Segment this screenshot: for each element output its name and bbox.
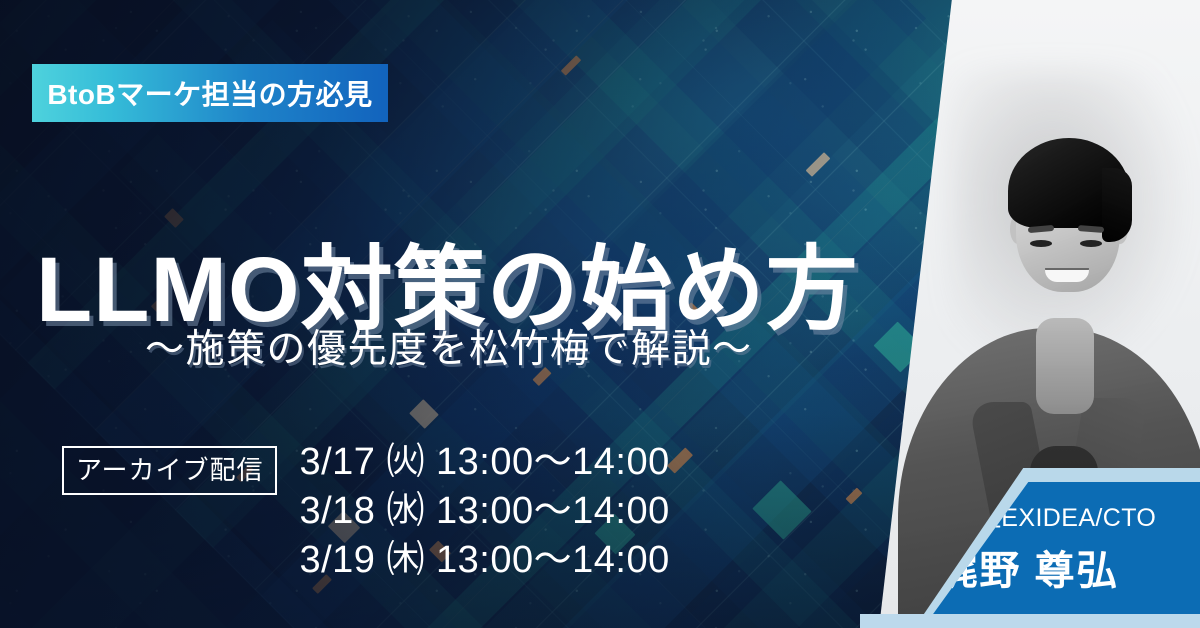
schedule-date-row: 3/19 ㈭ 13:00〜14:00: [299, 540, 669, 581]
schedule-date-row: 3/18 ㈬ 13:00〜14:00: [299, 491, 669, 532]
archive-delivery-tag: アーカイブ配信: [62, 446, 277, 495]
bottom-accent-strip: [860, 614, 1200, 628]
page-subtitle: 〜施策の優先度を松竹梅で解説〜: [145, 318, 753, 374]
audience-badge: BtoBマーケ担当の方必見: [32, 64, 388, 122]
schedule-date-row: 3/17 ㈫ 13:00〜14:00: [299, 442, 669, 483]
schedule-date-list: 3/17 ㈫ 13:00〜14:00 3/18 ㈬ 13:00〜14:00 3/…: [299, 442, 669, 581]
webinar-banner: 株式会社EXIDEA/CTO 梶野 尊弘 BtoBマーケ担当の方必見 LLMO対…: [0, 0, 1200, 628]
schedule-block: アーカイブ配信 3/17 ㈫ 13:00〜14:00 3/18 ㈬ 13:00〜…: [62, 442, 670, 581]
audience-badge-label: BtoBマーケ担当の方必見: [47, 73, 372, 113]
